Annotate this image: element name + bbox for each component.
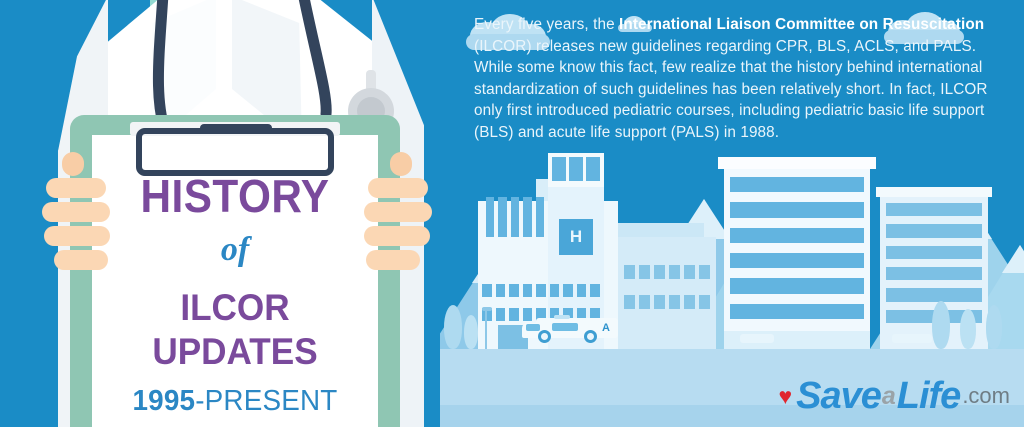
left-finger-2 <box>42 202 110 222</box>
infographic-banner: H <box>0 0 1024 427</box>
tree-right-1 <box>932 301 950 349</box>
right-finger-3 <box>364 226 430 246</box>
left-finger-3 <box>44 226 110 246</box>
logo-save: Save <box>796 377 881 415</box>
logo-a: a <box>881 384 897 409</box>
para-lead: Every five years, the <box>474 16 619 33</box>
office-building-1-windows <box>730 177 864 319</box>
ambulance-side-window <box>552 323 578 331</box>
right-finger-4 <box>366 250 420 270</box>
ambulance: A <box>522 313 618 343</box>
logo-com: .com <box>962 385 1010 407</box>
title-year-suffix: -PRESENT <box>195 385 337 417</box>
hospital-h-sign: H <box>559 219 593 255</box>
office-building-2-roof <box>876 187 992 197</box>
ambulance-wheel-front <box>538 330 551 343</box>
clipboard-title-block: HISTORY of ILCOR UPDATES 1995-PRESENT <box>92 170 378 420</box>
doctor-illustration: HISTORY of ILCOR UPDATES 1995-PRESENT <box>0 0 470 427</box>
tree-right-3 <box>986 305 1002 349</box>
doctor-right-hand <box>356 164 428 284</box>
right-thumb <box>390 152 412 176</box>
left-finger-4 <box>54 250 108 270</box>
ambulance-wheel-rear <box>584 330 597 343</box>
parked-car-1 <box>740 334 774 343</box>
intro-paragraph: Every five years, the International Liai… <box>474 14 990 144</box>
heart-icon: ♥ <box>778 385 792 408</box>
para-rest: (ILCOR) releases new guidelines regardin… <box>474 38 988 141</box>
title-year-range: 1995-PRESENT <box>98 382 373 420</box>
building-mid-windows-1 <box>624 265 710 279</box>
title-year-start: 1995 <box>132 385 195 417</box>
para-bold: International Liaison Committee on Resus… <box>619 16 984 33</box>
office-building-1-roof <box>718 157 876 169</box>
savealife-logo[interactable]: ♥ Save a Life .com <box>778 377 1010 415</box>
title-history: HISTORY <box>103 170 366 222</box>
hospital-windows-row2 <box>482 284 600 297</box>
hospital-windows-top <box>486 197 544 237</box>
ambulance-light-bar <box>554 315 570 319</box>
building-mid <box>618 237 716 349</box>
left-thumb <box>62 152 84 176</box>
clipboard-clip <box>136 128 334 176</box>
ambulance-marking: A <box>602 322 610 334</box>
parked-car-2 <box>892 334 932 343</box>
doctor-left-hand <box>46 164 118 284</box>
building-mid-windows-2 <box>624 295 710 309</box>
title-ilcor-updates: ILCOR UPDATES <box>99 286 371 374</box>
logo-life: Life <box>897 377 961 415</box>
ambulance-windshield <box>526 324 540 331</box>
clipboard-clip-bar <box>200 124 272 133</box>
right-finger-1 <box>368 178 428 198</box>
right-finger-2 <box>364 202 432 222</box>
hospital-roof-windows <box>552 157 600 181</box>
left-finger-1 <box>46 178 106 198</box>
tree-right-2 <box>960 309 976 349</box>
title-of: of <box>92 226 378 274</box>
